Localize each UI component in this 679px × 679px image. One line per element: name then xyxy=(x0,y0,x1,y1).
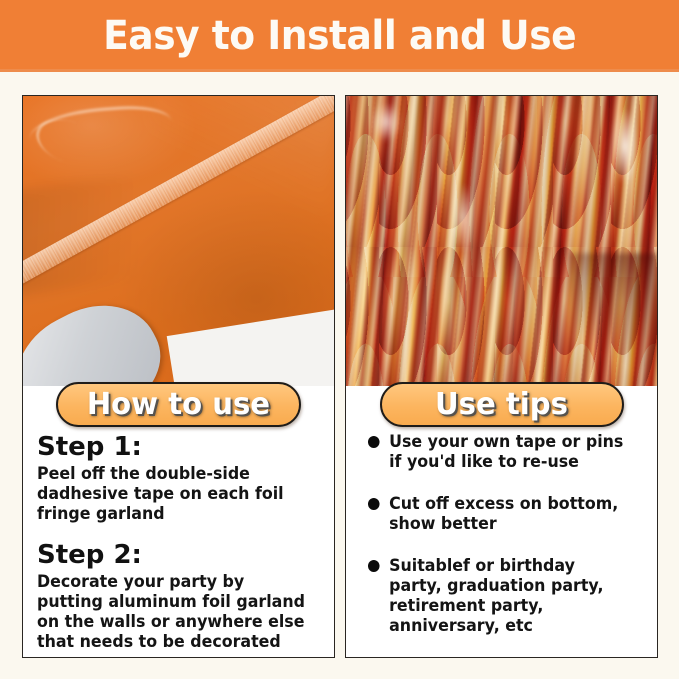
step-1-title: Step 1: xyxy=(37,432,320,462)
orange-foil-sheet-photo xyxy=(23,96,334,386)
bullet-icon xyxy=(368,560,380,572)
list-item: Cut off excess on bottom, show better xyxy=(368,494,628,534)
list-item: Suitablef or birthday party, graduation … xyxy=(368,556,628,636)
how-to-use-pill-wrapper: How to use xyxy=(23,382,334,427)
fringe-highlight-right xyxy=(612,108,638,184)
use-tips-pill-wrapper: Use tips xyxy=(346,382,657,427)
step-1-description: Peel off the double-side dadhesive tape … xyxy=(37,464,309,524)
peeled-backing-corner xyxy=(23,284,177,386)
how-to-use-pill: How to use xyxy=(56,382,301,427)
infographic-page: Easy to Install and Use How to use xyxy=(0,0,679,679)
use-tips-pill: Use tips xyxy=(380,382,624,427)
tip-text: Suitablef or birthday party, graduation … xyxy=(389,556,603,635)
step-2-block: Step 2: Decorate your party by putting a… xyxy=(37,540,320,652)
step-2-title: Step 2: xyxy=(37,540,320,570)
panel-how-to-use: How to use Step 1: Peel off the double-s… xyxy=(22,95,335,658)
panel-use-tips: Use tips Use your own tape or pins if yo… xyxy=(345,95,658,658)
fringe-highlight-left xyxy=(371,102,401,142)
tip-text: Use your own tape or pins if you'd like … xyxy=(389,432,623,471)
bullet-icon xyxy=(368,436,380,448)
bullet-icon xyxy=(368,498,380,510)
panels-container: How to use Step 1: Peel off the double-s… xyxy=(22,95,658,658)
header-banner: Easy to Install and Use xyxy=(0,0,679,72)
fringe-highlight-center xyxy=(452,183,474,253)
how-to-use-pill-label: How to use xyxy=(87,389,270,421)
page-title: Easy to Install and Use xyxy=(103,14,576,58)
use-tips-list: Use your own tape or pins if you'd like … xyxy=(360,432,643,636)
use-tips-pill-label: Use tips xyxy=(435,389,568,421)
fringe-garland-photo xyxy=(346,96,657,386)
step-2-description: Decorate your party by putting aluminum … xyxy=(37,572,309,652)
step-1-block: Step 1: Peel off the double-side dadhesi… xyxy=(37,432,320,524)
tip-text: Cut off excess on bottom, show better xyxy=(389,494,618,533)
fringe-shadow-corner xyxy=(570,253,657,386)
sheet-white-area-right xyxy=(167,309,334,386)
list-item: Use your own tape or pins if you'd like … xyxy=(368,432,628,472)
